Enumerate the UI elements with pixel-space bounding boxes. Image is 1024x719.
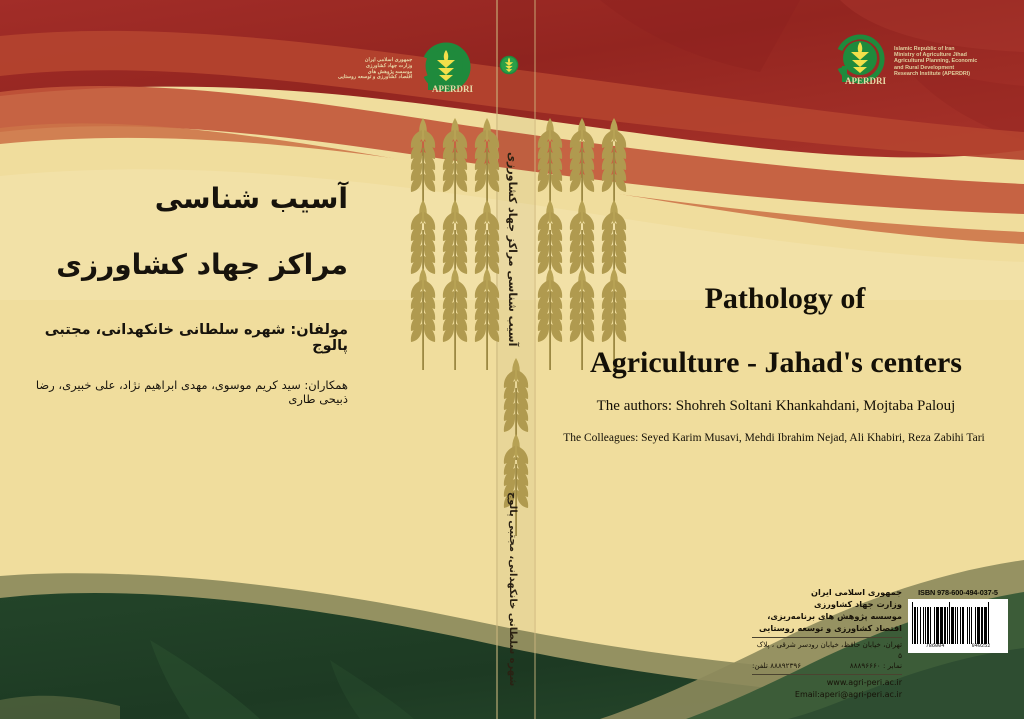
logo-wordmark: APERDRI [845,76,886,86]
aperdri-logo-back: جمهوری اسلامی ایران وزارت جهاد کشاورزی م… [338,36,474,103]
front-colleagues: The Colleagues: Seyed Karim Musavi, Mehd… [524,432,1024,444]
phone-label: تلفن: [752,661,768,670]
wheat-grid-back [411,118,499,370]
logo-line: اقتصاد کشاورزی و توسعه روستایی [338,75,412,81]
fax-label: نمابر : [883,661,902,670]
front-title-line-1: Pathology of [560,282,1010,316]
back-authors: مولفان: شهره سلطانی خانکهدانی، مجتبی پال… [40,322,348,354]
book-cover-artwork: جمهوری اسلامی ایران وزارت جهاد کشاورزی م… [0,0,1024,719]
fax-number: ۸۸۸۹۶۶۶۰ [850,661,881,670]
logo-line: Agricultural Planning, Economic [894,58,977,64]
front-authors: The authors: Shohreh Soltani Khankahdani… [528,398,1024,415]
spine-authors: شهره سلطانی خانکهدانی، مجتبی پالوج [507,492,518,686]
publisher-line: وزارت جهاد کشاورزی [752,598,902,610]
logo-line: Research Institute (APERDRI) [894,71,977,77]
publisher-address-block: تهران، خیابان حافظ، خیابان رودسر شرقی ، … [752,640,902,673]
aperdri-wheat-shield-icon: APERDRI [418,36,474,103]
wheat-grid-front [538,118,626,370]
publisher-address: تهران، خیابان حافظ، خیابان رودسر شرقی ، … [752,640,902,662]
divider [752,637,902,638]
ean13-barcode: 786004 940252 [908,599,1008,653]
publisher-line: موسسه پژوهش های برنامه‌ریزی، [752,610,902,622]
fax-group: نمابر : ۸۸۸۹۶۶۶۰ [850,661,902,672]
aperdri-wheat-shield-icon: APERDRI [832,28,888,95]
back-title-line-2: مراکز جهاد کشاورزی [40,248,348,281]
isbn-number: ISBN 978-600-494-037-5 [908,588,1008,597]
spine-title: آسیب شناسی مراکز جهاد کشاورزی [506,152,519,346]
publisher-web-block: www.agri-peri.ac.ir Email:aperi@agri-per… [752,677,902,700]
front-title-line-2: Agriculture - Jahad's centers [528,346,1024,380]
publisher-line: جمهوری اسلامی ایران [752,586,902,598]
aperdri-logo-back-text: جمهوری اسلامی ایران وزارت جهاد کشاورزی م… [338,58,412,81]
barcode-digit-group: 940252 [972,643,991,649]
publisher-line: اقتصاد کشاورزی و توسعه روستایی [752,622,902,634]
barcode-digit-group: 786004 [926,643,945,649]
phone-number: ۸۸۸۹۲۳۹۶ [770,661,801,670]
publisher-contact-row: نمابر : ۸۸۸۹۶۶۶۰ ۸۸۸۹۲۳۹۶ تلفن: [752,661,902,672]
isbn-barcode-area: ISBN 978-600-494-037-5 786004 940252 [908,588,1008,653]
publisher-email[interactable]: Email:aperi@agri-peri.ac.ir [752,689,902,701]
divider [752,674,902,675]
aperdri-logo-front: APERDRI Islamic Republic of Iran Ministr… [832,28,977,95]
phone-group: ۸۸۸۹۲۳۹۶ تلفن: [752,661,801,672]
back-colleagues: همکاران: سید کریم موسوی، مهدی ابراهیم نژ… [30,378,348,406]
publisher-name: جمهوری اسلامی ایران وزارت جهاد کشاورزی م… [752,586,902,635]
aperdri-logo-front-text: Islamic Republic of Iran Ministry of Agr… [894,46,977,76]
logo-wordmark: APERDRI [432,84,473,94]
barcode-bars [912,602,1004,644]
publisher-website[interactable]: www.agri-peri.ac.ir [752,677,902,689]
publisher-info-block: جمهوری اسلامی ایران وزارت جهاد کشاورزی م… [752,586,902,701]
back-title-line-1: آسیب شناسی [60,182,348,215]
aperdri-logo-mini-icon [496,52,522,83]
